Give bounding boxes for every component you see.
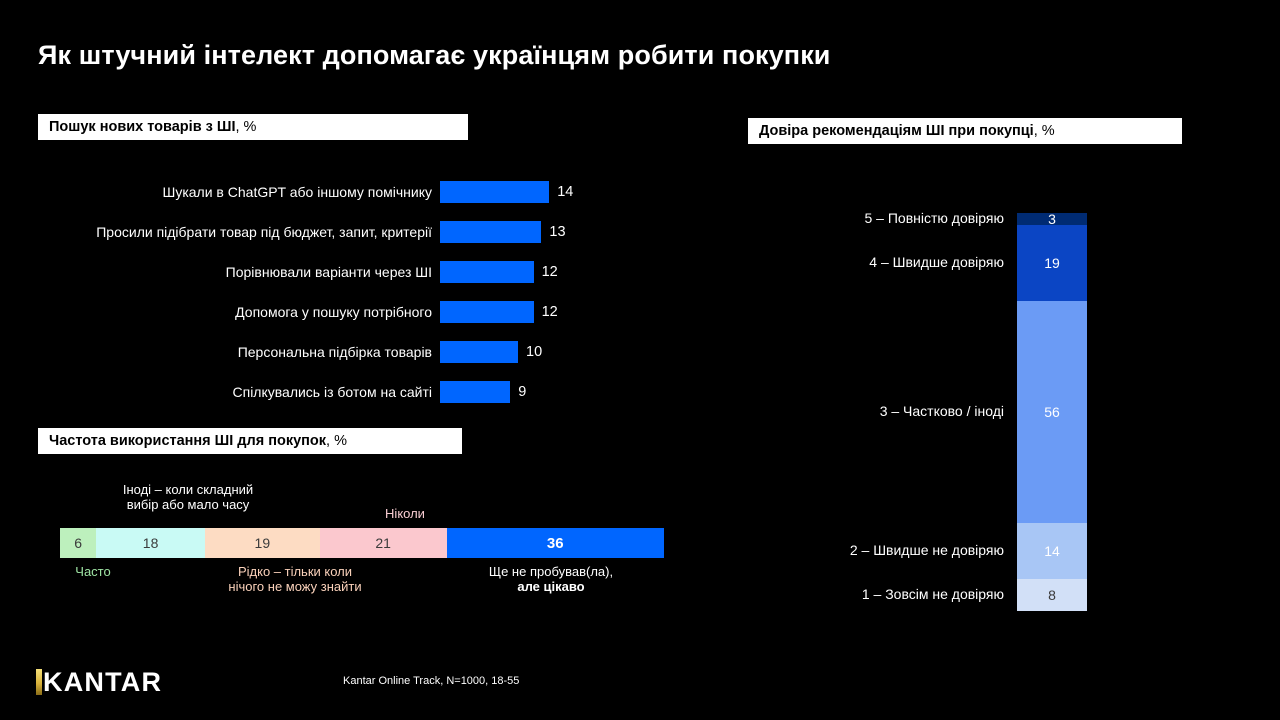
trust-category-label: 3 – Частково / іноді bbox=[880, 403, 1004, 419]
bar-row: Порівнювали варіанти через ШІ12 bbox=[40, 252, 660, 292]
bar-value-label: 12 bbox=[542, 304, 558, 320]
section-header-trust-sub: , % bbox=[1034, 123, 1055, 139]
trust-category-label: 4 – Швидше довіряю bbox=[869, 254, 1004, 270]
frequency-segment: 36 bbox=[447, 528, 664, 558]
trust-category-label: 1 – Зовсім не довіряю bbox=[862, 586, 1004, 602]
section-header-search-main: Пошук нових товарів з ШІ bbox=[49, 119, 235, 135]
bar-value-label: 13 bbox=[549, 224, 565, 240]
trust-stacked-column: 31956148 bbox=[1017, 213, 1087, 611]
frequency-callout-rarely: Рідко – тільки колинічого не можу знайти bbox=[180, 564, 410, 594]
frequency-callouts-bottom: Часто Рідко – тільки колинічого не можу … bbox=[60, 558, 680, 618]
bar-fill bbox=[440, 341, 518, 363]
trust-category-label: 2 – Швидше не довіряю bbox=[850, 542, 1004, 558]
trust-segment: 8 bbox=[1017, 579, 1087, 611]
chart-search-with-ai: Шукали в ChatGPT або іншому помічнику14П… bbox=[40, 172, 660, 412]
kantar-logo-text: KANTAR bbox=[43, 669, 162, 696]
kantar-logo: KANTAR bbox=[36, 667, 162, 697]
frequency-segment: 18 bbox=[96, 528, 205, 558]
callout-line: Ніколи bbox=[350, 506, 460, 521]
source-note: Kantar Online Track, N=1000, 18-55 bbox=[343, 675, 519, 687]
section-header-frequency-main: Частота використання ШІ для покупок bbox=[49, 433, 326, 449]
frequency-stacked-bar: 618192136 bbox=[60, 528, 664, 558]
bar-track: 12 bbox=[440, 301, 660, 323]
bar-category-label: Персональна підбірка товарів bbox=[40, 344, 440, 360]
bar-category-label: Просили підібрати товар під бюджет, запи… bbox=[40, 224, 440, 240]
bar-category-label: Шукали в ChatGPT або іншому помічнику bbox=[40, 184, 440, 200]
section-header-frequency: Частота використання ШІ для покупок , % bbox=[38, 428, 462, 454]
frequency-callout-often: Часто bbox=[60, 564, 126, 579]
kantar-accent-bar-icon bbox=[36, 669, 42, 695]
bar-fill bbox=[440, 181, 549, 203]
bar-value-label: 9 bbox=[518, 384, 526, 400]
section-header-search-sub: , % bbox=[235, 119, 256, 135]
callout-line: Ще не пробував(ла), bbox=[426, 564, 676, 579]
frequency-segment: 19 bbox=[205, 528, 320, 558]
bar-track: 12 bbox=[440, 261, 660, 283]
section-header-trust-main: Довіра рекомендаціям ШІ при покупці bbox=[759, 123, 1034, 139]
callout-line: Рідко – тільки коли bbox=[180, 564, 410, 579]
frequency-segment: 21 bbox=[320, 528, 447, 558]
callout-line: але цікаво bbox=[426, 579, 676, 594]
frequency-callout-never: Ніколи bbox=[350, 506, 460, 521]
frequency-callout-not-tried: Ще не пробував(ла),але цікаво bbox=[426, 564, 676, 594]
bar-track: 9 bbox=[440, 381, 660, 403]
bar-value-label: 12 bbox=[542, 264, 558, 280]
bar-row: Допомога у пошуку потрібного12 bbox=[40, 292, 660, 332]
callout-line: нічого не можу знайти bbox=[180, 579, 410, 594]
callout-line: Часто bbox=[60, 564, 126, 579]
trust-segment: 14 bbox=[1017, 523, 1087, 579]
frequency-segment: 6 bbox=[60, 528, 96, 558]
trust-segment: 56 bbox=[1017, 301, 1087, 524]
bar-fill bbox=[440, 261, 534, 283]
bar-fill bbox=[440, 301, 534, 323]
page-title: Як штучний інтелект допомагає українцям … bbox=[38, 40, 831, 71]
bar-category-label: Порівнювали варіанти через ШІ bbox=[40, 264, 440, 280]
bar-row: Спілкувались із ботом на сайті9 bbox=[40, 372, 660, 412]
bar-category-label: Допомога у пошуку потрібного bbox=[40, 304, 440, 320]
section-header-trust: Довіра рекомендаціям ШІ при покупці , % bbox=[748, 118, 1182, 144]
section-header-frequency-sub: , % bbox=[326, 433, 347, 449]
trust-segment: 19 bbox=[1017, 225, 1087, 301]
bar-row: Персональна підбірка товарів10 bbox=[40, 332, 660, 372]
chart-trust-in-ai-recommendations: 31956148 5 – Повністю довіряю4 – Швидше … bbox=[760, 213, 1180, 613]
trust-segment: 3 bbox=[1017, 213, 1087, 225]
callout-line: Іноді – коли складний bbox=[88, 482, 288, 497]
callout-line: вибір або мало часу bbox=[88, 497, 288, 512]
frequency-callouts-top: Іноді – коли складнийвибір або мало часу… bbox=[60, 480, 680, 528]
bar-row: Просили підібрати товар під бюджет, запи… bbox=[40, 212, 660, 252]
bar-track: 10 bbox=[440, 341, 660, 363]
bar-value-label: 14 bbox=[557, 184, 573, 200]
bar-track: 14 bbox=[440, 181, 660, 203]
section-header-search: Пошук нових товарів з ШІ , % bbox=[38, 114, 468, 140]
bar-track: 13 bbox=[440, 221, 660, 243]
frequency-callout-sometimes: Іноді – коли складнийвибір або мало часу bbox=[88, 482, 288, 512]
bar-category-label: Спілкувались із ботом на сайті bbox=[40, 384, 440, 400]
trust-category-label: 5 – Повністю довіряю bbox=[865, 210, 1005, 226]
bar-fill bbox=[440, 221, 541, 243]
chart-frequency-of-ai-use: Іноді – коли складнийвибір або мало часу… bbox=[60, 480, 680, 618]
bar-fill bbox=[440, 381, 510, 403]
bar-value-label: 10 bbox=[526, 344, 542, 360]
slide-canvas: Як штучний інтелект допомагає українцям … bbox=[0, 0, 1280, 720]
bar-row: Шукали в ChatGPT або іншому помічнику14 bbox=[40, 172, 660, 212]
